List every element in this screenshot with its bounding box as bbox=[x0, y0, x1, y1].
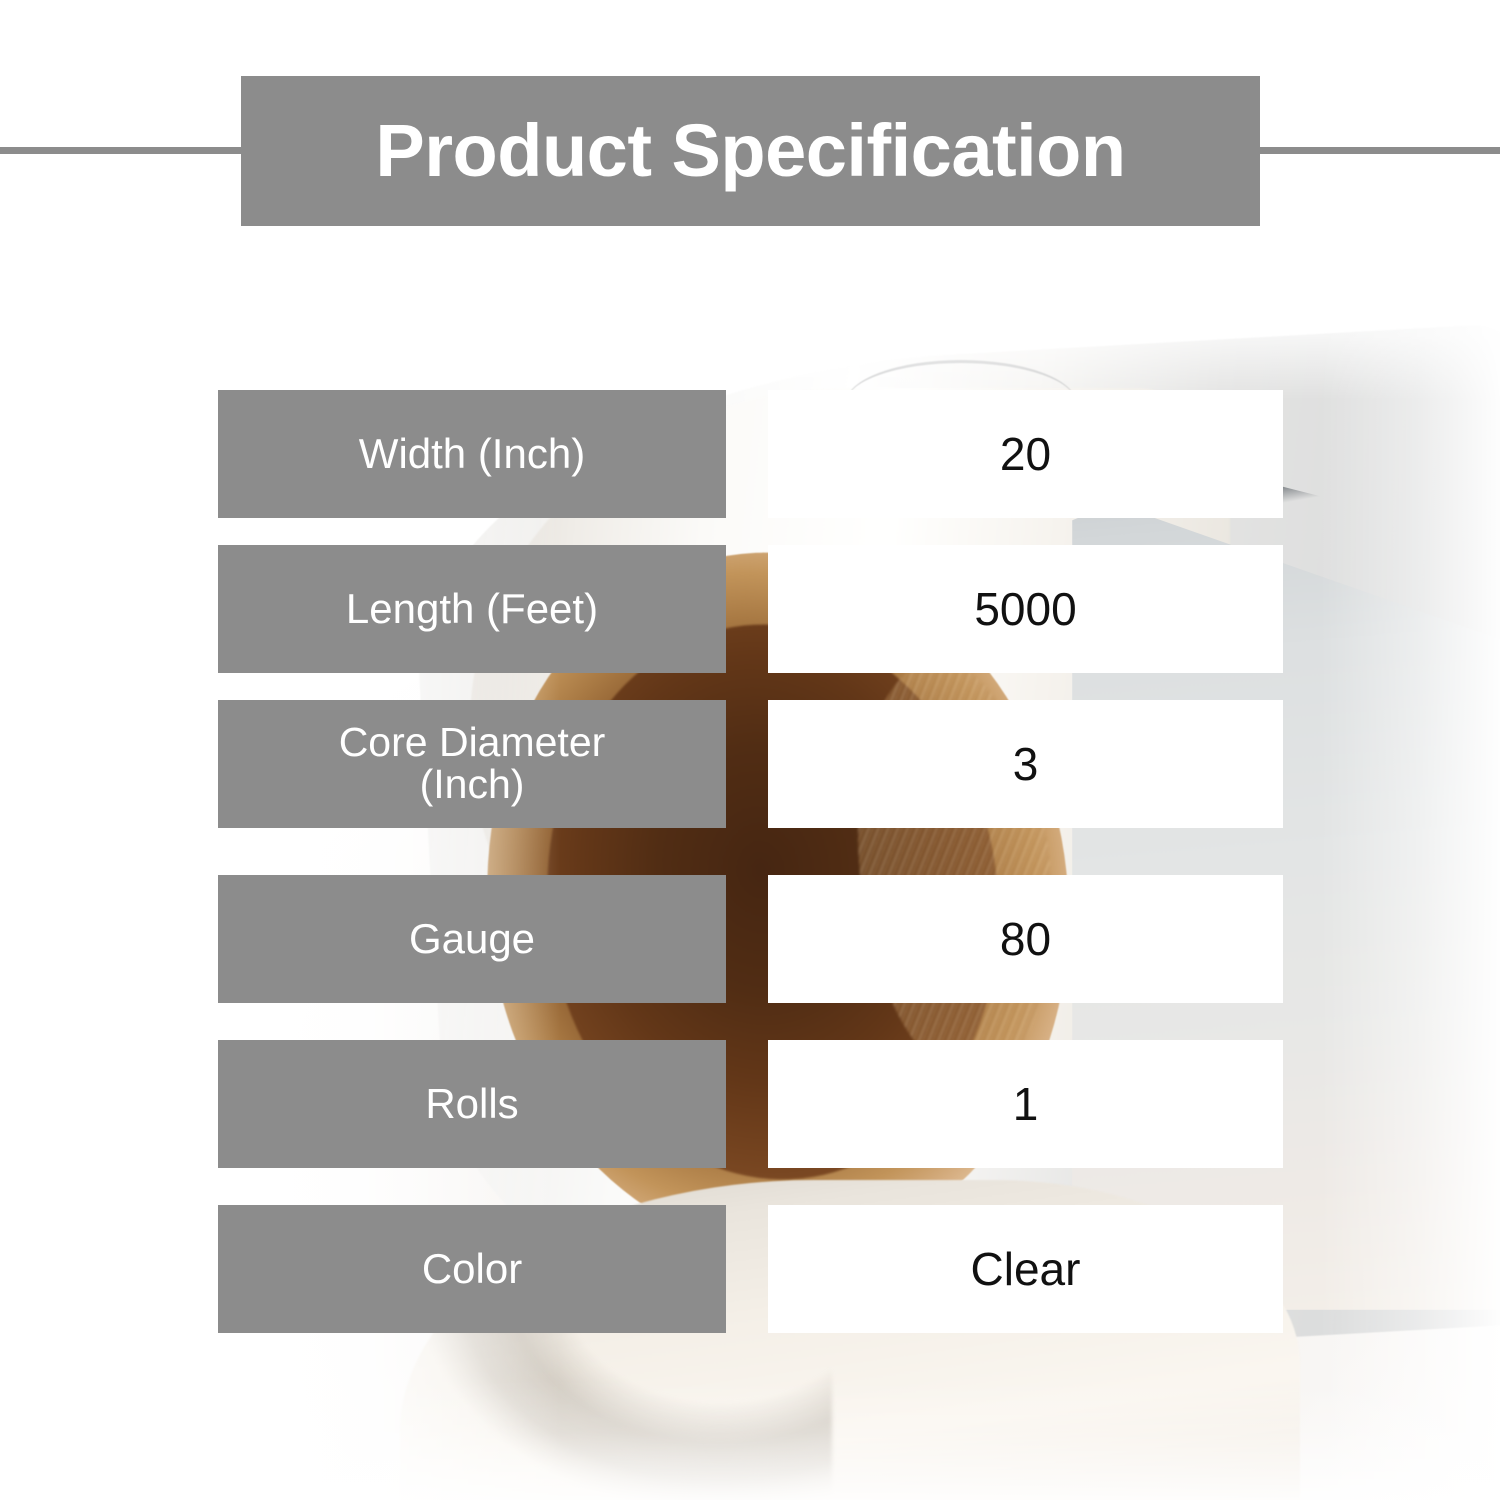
table-row: Color Clear bbox=[0, 1205, 1500, 1333]
spec-label-width: Width (Inch) bbox=[218, 390, 726, 518]
spec-value-gauge: 80 bbox=[768, 875, 1283, 1003]
spec-label-rolls: Rolls bbox=[218, 1040, 726, 1168]
specification-table: Width (Inch) 20 Length (Feet) 5000 Core … bbox=[0, 0, 1500, 1500]
spec-value-length: 5000 bbox=[768, 545, 1283, 673]
spec-label-gauge: Gauge bbox=[218, 875, 726, 1003]
spec-label-core-diameter-line2: (Inch) bbox=[420, 761, 525, 807]
table-row: Gauge 80 bbox=[0, 875, 1500, 1003]
spec-value-core-diameter: 3 bbox=[768, 700, 1283, 828]
spec-value-rolls: 1 bbox=[768, 1040, 1283, 1168]
spec-label-length: Length (Feet) bbox=[218, 545, 726, 673]
table-row: Core Diameter (Inch) 3 bbox=[0, 700, 1500, 828]
spec-value-color: Clear bbox=[768, 1205, 1283, 1333]
table-row: Width (Inch) 20 bbox=[0, 390, 1500, 518]
spec-value-width: 20 bbox=[768, 390, 1283, 518]
spec-label-core-diameter: Core Diameter (Inch) bbox=[218, 700, 726, 828]
spec-label-core-diameter-line1: Core Diameter bbox=[339, 719, 606, 765]
table-row: Rolls 1 bbox=[0, 1040, 1500, 1168]
product-specification-page: Product Specification Width (Inch) 20 Le… bbox=[0, 0, 1500, 1500]
table-row: Length (Feet) 5000 bbox=[0, 545, 1500, 673]
spec-label-color: Color bbox=[218, 1205, 726, 1333]
